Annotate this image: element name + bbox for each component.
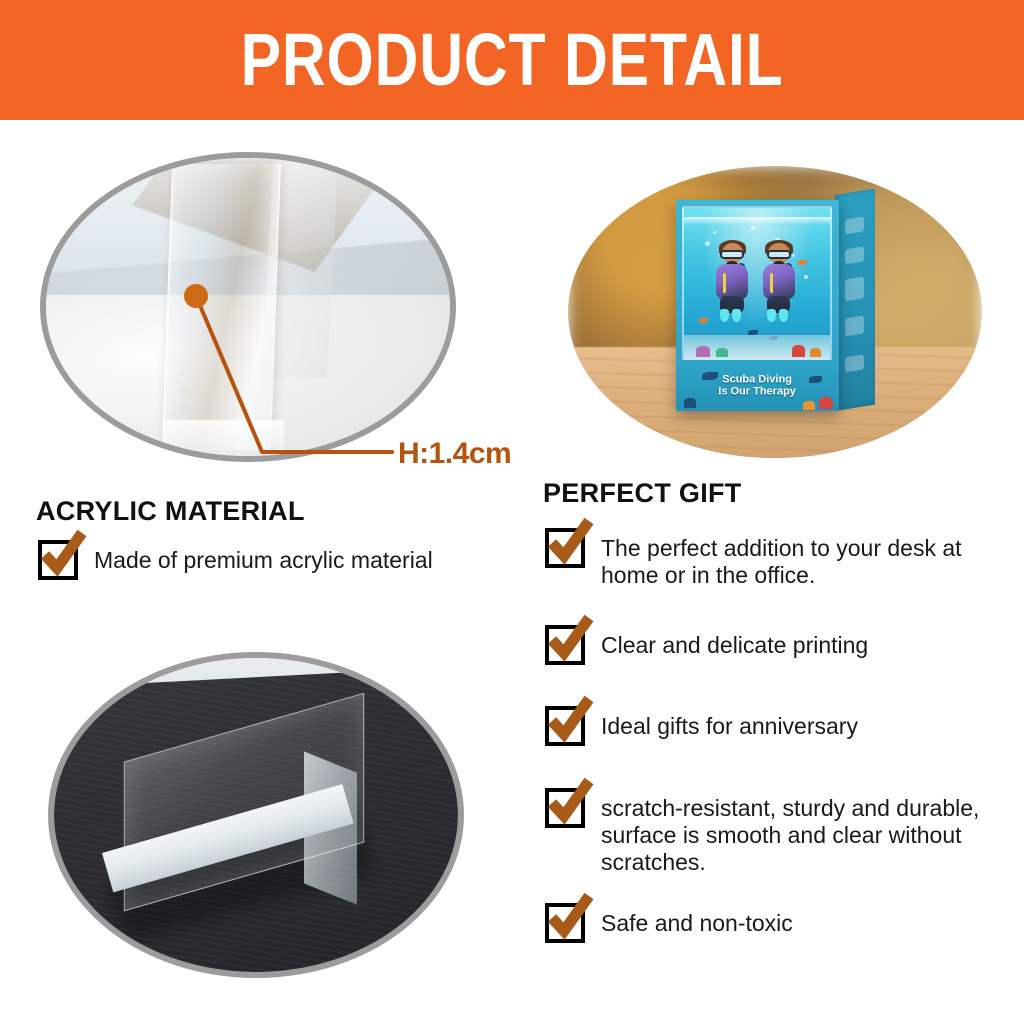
coral-icon [696, 346, 710, 357]
feature-text: Clear and delicate printing [601, 625, 868, 659]
water-surface-highlight [684, 217, 830, 225]
box-label-line-2: Is Our Therapy [718, 386, 796, 398]
box-front-panel: Scuba Diving Is Our Therapy [676, 200, 839, 412]
photo-acrylic-block-flat [48, 652, 464, 978]
fish-icon [699, 318, 708, 323]
height-callout-label: H:1.4cm [398, 437, 511, 471]
checkbox-checked-icon[interactable] [545, 706, 585, 746]
coral-icon [803, 401, 815, 410]
acrylic-base-highlight [163, 420, 284, 456]
coral-icon [716, 348, 728, 357]
coral-icon [810, 348, 821, 357]
feature-text: scratch-resistant, sturdy and durable, s… [601, 788, 1021, 876]
checkbox-checked-icon[interactable] [38, 540, 78, 580]
acrylic-edge-face [162, 164, 281, 450]
photo-product-gift-box: Scuba Diving Is Our Therapy [568, 166, 982, 458]
product-detail-page: PRODUCT DETAIL [0, 0, 1024, 1024]
coral-icon [792, 345, 805, 357]
checkbox-checked-icon[interactable] [545, 528, 585, 568]
box-label-band: Scuba Diving Is Our Therapy [676, 360, 839, 411]
box-side-panel [835, 189, 875, 411]
fish-icon [809, 376, 822, 383]
seaweed-icon [684, 398, 696, 408]
feature-item: Made of premium acrylic material [38, 540, 433, 580]
wood-table-scene [46, 158, 450, 456]
feature-text: Ideal gifts for anniversary [601, 706, 858, 740]
feature-item: The perfect addition to your desk at hom… [545, 528, 1021, 589]
section-title-acrylic-material: ACRYLIC MATERIAL [36, 496, 305, 527]
feature-text: Made of premium acrylic material [94, 540, 433, 574]
feature-text: The perfect addition to your desk at hom… [601, 528, 1021, 589]
slate-scene [54, 658, 458, 972]
page-header-banner: PRODUCT DETAIL [0, 0, 1024, 120]
feature-item: Safe and non-toxic [545, 903, 793, 943]
box-underwater-artwork [682, 206, 832, 363]
checkbox-checked-icon[interactable] [545, 788, 585, 828]
feature-item: Ideal gifts for anniversary [545, 706, 858, 746]
section-title-perfect-gift: PERFECT GIFT [543, 478, 742, 509]
page-title: PRODUCT DETAIL [241, 23, 784, 97]
fish-icon [798, 260, 807, 265]
diver-figure-1 [713, 243, 751, 319]
checkbox-checked-icon[interactable] [545, 625, 585, 665]
feature-text: Safe and non-toxic [601, 903, 793, 937]
feature-item: Clear and delicate printing [545, 625, 868, 665]
coral-icon [819, 397, 833, 409]
feature-item: scratch-resistant, sturdy and durable, s… [545, 788, 1021, 876]
checkbox-checked-icon[interactable] [545, 903, 585, 943]
fish-icon [702, 372, 718, 380]
gift-box-scene: Scuba Diving Is Our Therapy [568, 166, 982, 458]
photo-acrylic-block-edge [40, 152, 456, 462]
box-brand-text: Scuba Diving Is Our Therapy [718, 373, 796, 398]
product-box: Scuba Diving Is Our Therapy [676, 195, 875, 411]
diver-figure-2 [760, 243, 798, 319]
box-label-line-1: Scuba Diving [722, 373, 792, 385]
